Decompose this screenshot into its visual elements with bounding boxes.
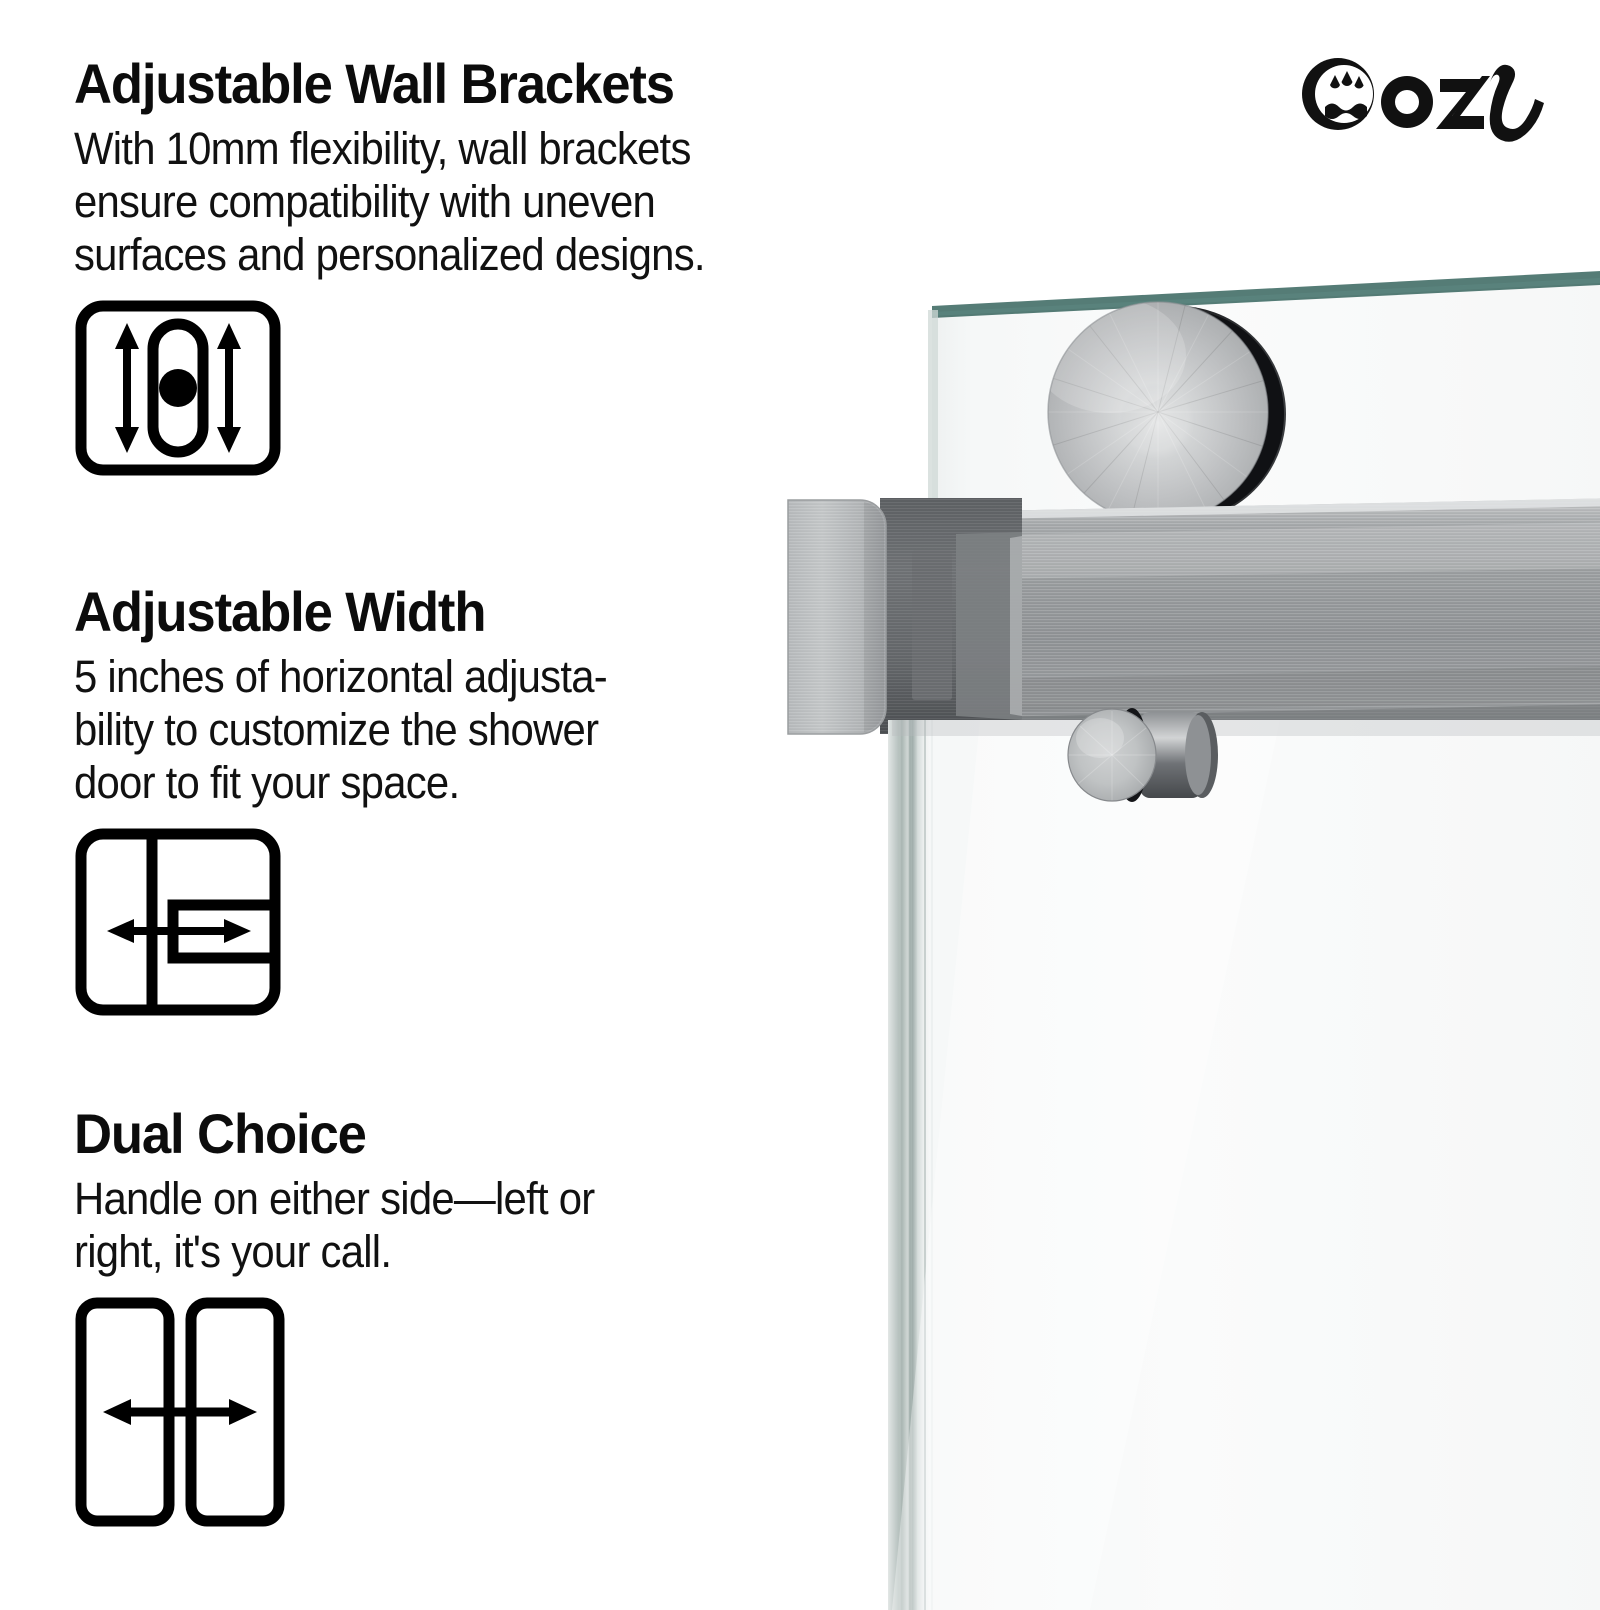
desc-line: 5 inches of horizontal adjusta-	[74, 650, 607, 703]
feature-title: Adjustable Wall Brackets	[74, 52, 712, 116]
feature-description: With 10mm flexibility, wall brackets ens…	[74, 122, 705, 281]
product-photo	[760, 250, 1600, 1610]
feature-dual-choice: Dual Choice Handle on either side—left o…	[74, 1102, 634, 1533]
feature-adjustable-width: Adjustable Width 5 inches of horizontal …	[74, 580, 647, 1022]
desc-line: bility to customize the shower	[74, 703, 607, 756]
brand-logo	[1294, 52, 1544, 142]
feature-title: Adjustable Width	[74, 580, 613, 644]
desc-line: With 10mm flexibility, wall brackets	[74, 122, 705, 175]
cozy-z-letter	[1436, 76, 1490, 129]
feature-description: 5 inches of horizontal adjusta- bility t…	[74, 650, 607, 809]
cozy-c-droplet-icon	[1300, 58, 1374, 130]
desc-line: door to fit your space.	[74, 756, 607, 809]
cozy-y-showerhead-icon	[1490, 65, 1544, 142]
desc-line: ensure compatibility with uneven	[74, 175, 705, 228]
feature-description: Handle on either side—left or right, it'…	[74, 1172, 594, 1278]
cozy-o-letter	[1381, 76, 1433, 128]
wall-bracket	[788, 498, 1022, 734]
feature-title: Dual Choice	[74, 1102, 600, 1166]
vertical-adjustment-icon	[74, 299, 752, 482]
desc-line: right, it's your call.	[74, 1225, 594, 1278]
horizontal-adjustment-icon	[74, 827, 647, 1022]
dual-side-panels-icon	[74, 1296, 634, 1533]
feature-adjustable-wall-brackets: Adjustable Wall Brackets With 10mm flexi…	[74, 52, 752, 482]
glass-panel-lower	[888, 720, 1600, 1610]
small-guide-roller	[1068, 708, 1218, 802]
desc-line: Handle on either side—left or	[74, 1172, 594, 1225]
desc-line: surfaces and personalized designs.	[74, 228, 705, 281]
